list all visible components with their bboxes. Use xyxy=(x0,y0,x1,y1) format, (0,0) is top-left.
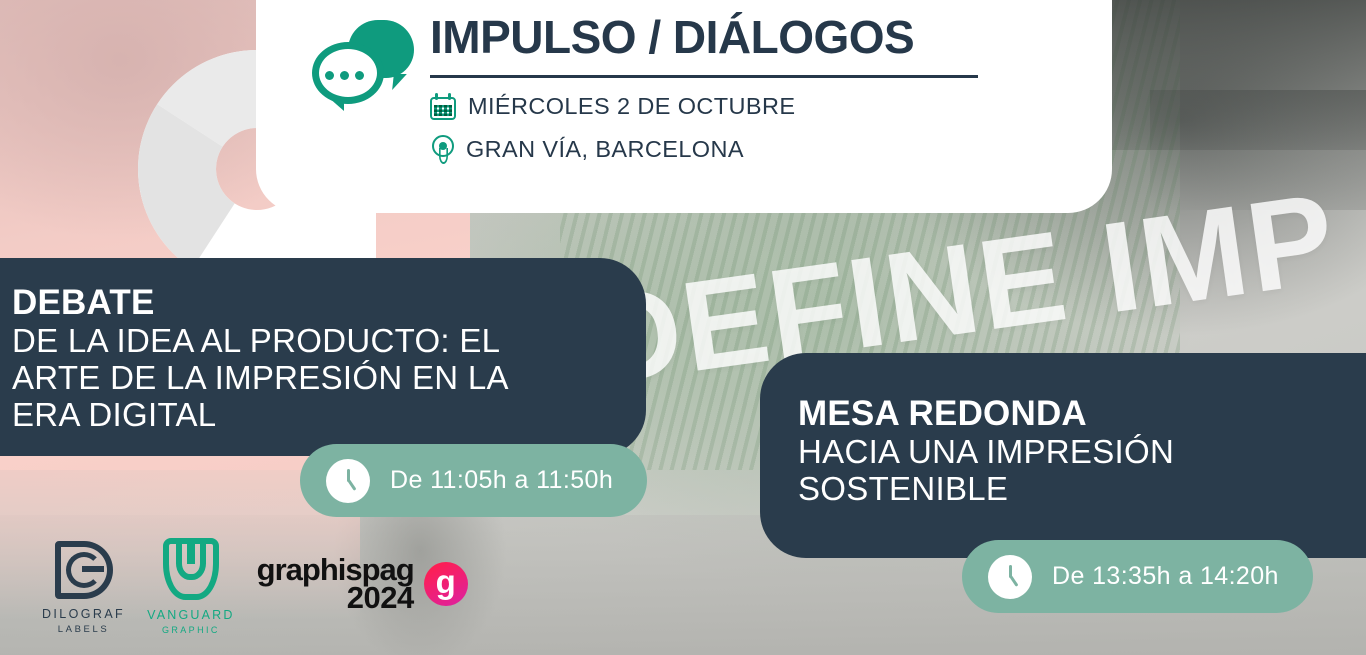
page-title: IMPULSO / DIÁLOGOS xyxy=(430,14,978,61)
clock-icon xyxy=(326,459,370,503)
poster-canvas: DEFINE IMP IMPULSO / DIÁLOGOS xyxy=(0,0,1366,655)
sponsor-graphispag: graphispag 2024 g xyxy=(257,556,468,613)
sponsor-logo-bar: DILOGRAF LABELS VANGUARD GRAPHIC graphis… xyxy=(42,538,468,635)
session-time-text: De 11:05h a 11:50h xyxy=(390,466,613,495)
event-location-row: GRAN VÍA, BARCELONA xyxy=(430,135,978,165)
graphispag-badge-icon: g xyxy=(424,562,468,606)
session-card-mesa-redonda: MESA REDONDA HACIA UNA IMPRESIÓN SOSTENI… xyxy=(760,353,1366,558)
sponsor-name: DILOGRAF xyxy=(42,607,125,621)
session-kicker: DEBATE xyxy=(12,284,646,321)
session-time-pill-debate[interactable]: De 11:05h a 11:50h xyxy=(300,444,647,517)
sponsor-subtitle: GRAPHIC xyxy=(162,625,220,635)
clock-icon xyxy=(988,555,1032,599)
session-card-debate: DEBATE DE LA IDEA AL PRODUCTO: EL ARTE D… xyxy=(0,258,646,456)
session-title: DE LA IDEA AL PRODUCTO: EL ARTE DE LA IM… xyxy=(12,323,542,434)
sponsor-year: 2024 xyxy=(257,584,414,613)
event-date-row: MIÉRCOLES 2 DE OCTUBRE xyxy=(430,93,978,120)
vanguard-shield-mark xyxy=(163,538,219,600)
sponsor-dilograf: DILOGRAF LABELS xyxy=(42,541,125,635)
sponsor-name: VANGUARD xyxy=(147,608,235,622)
dilograf-logo-mark xyxy=(55,541,113,599)
chat-dots-icon xyxy=(325,71,364,80)
chat-bubbles-icon xyxy=(312,20,414,106)
sponsor-subtitle: LABELS xyxy=(58,624,110,635)
calendar-icon xyxy=(430,93,456,120)
event-header-card: IMPULSO / DIÁLOGOS MIÉRCOLES 2 DE OCTUBR… xyxy=(256,0,1112,213)
session-time-pill-mesa-redonda[interactable]: De 13:35h a 14:20h xyxy=(962,540,1313,613)
session-time-text: De 13:35h a 14:20h xyxy=(1052,562,1279,591)
location-pin-icon xyxy=(432,135,454,165)
title-divider xyxy=(430,75,978,78)
event-location-text: GRAN VÍA, BARCELONA xyxy=(466,136,744,163)
event-date-text: MIÉRCOLES 2 DE OCTUBRE xyxy=(468,93,795,120)
sponsor-vanguard: VANGUARD GRAPHIC xyxy=(147,538,235,635)
session-kicker: MESA REDONDA xyxy=(798,395,1366,432)
session-title: HACIA UNA IMPRESIÓN SOSTENIBLE xyxy=(798,434,1228,508)
